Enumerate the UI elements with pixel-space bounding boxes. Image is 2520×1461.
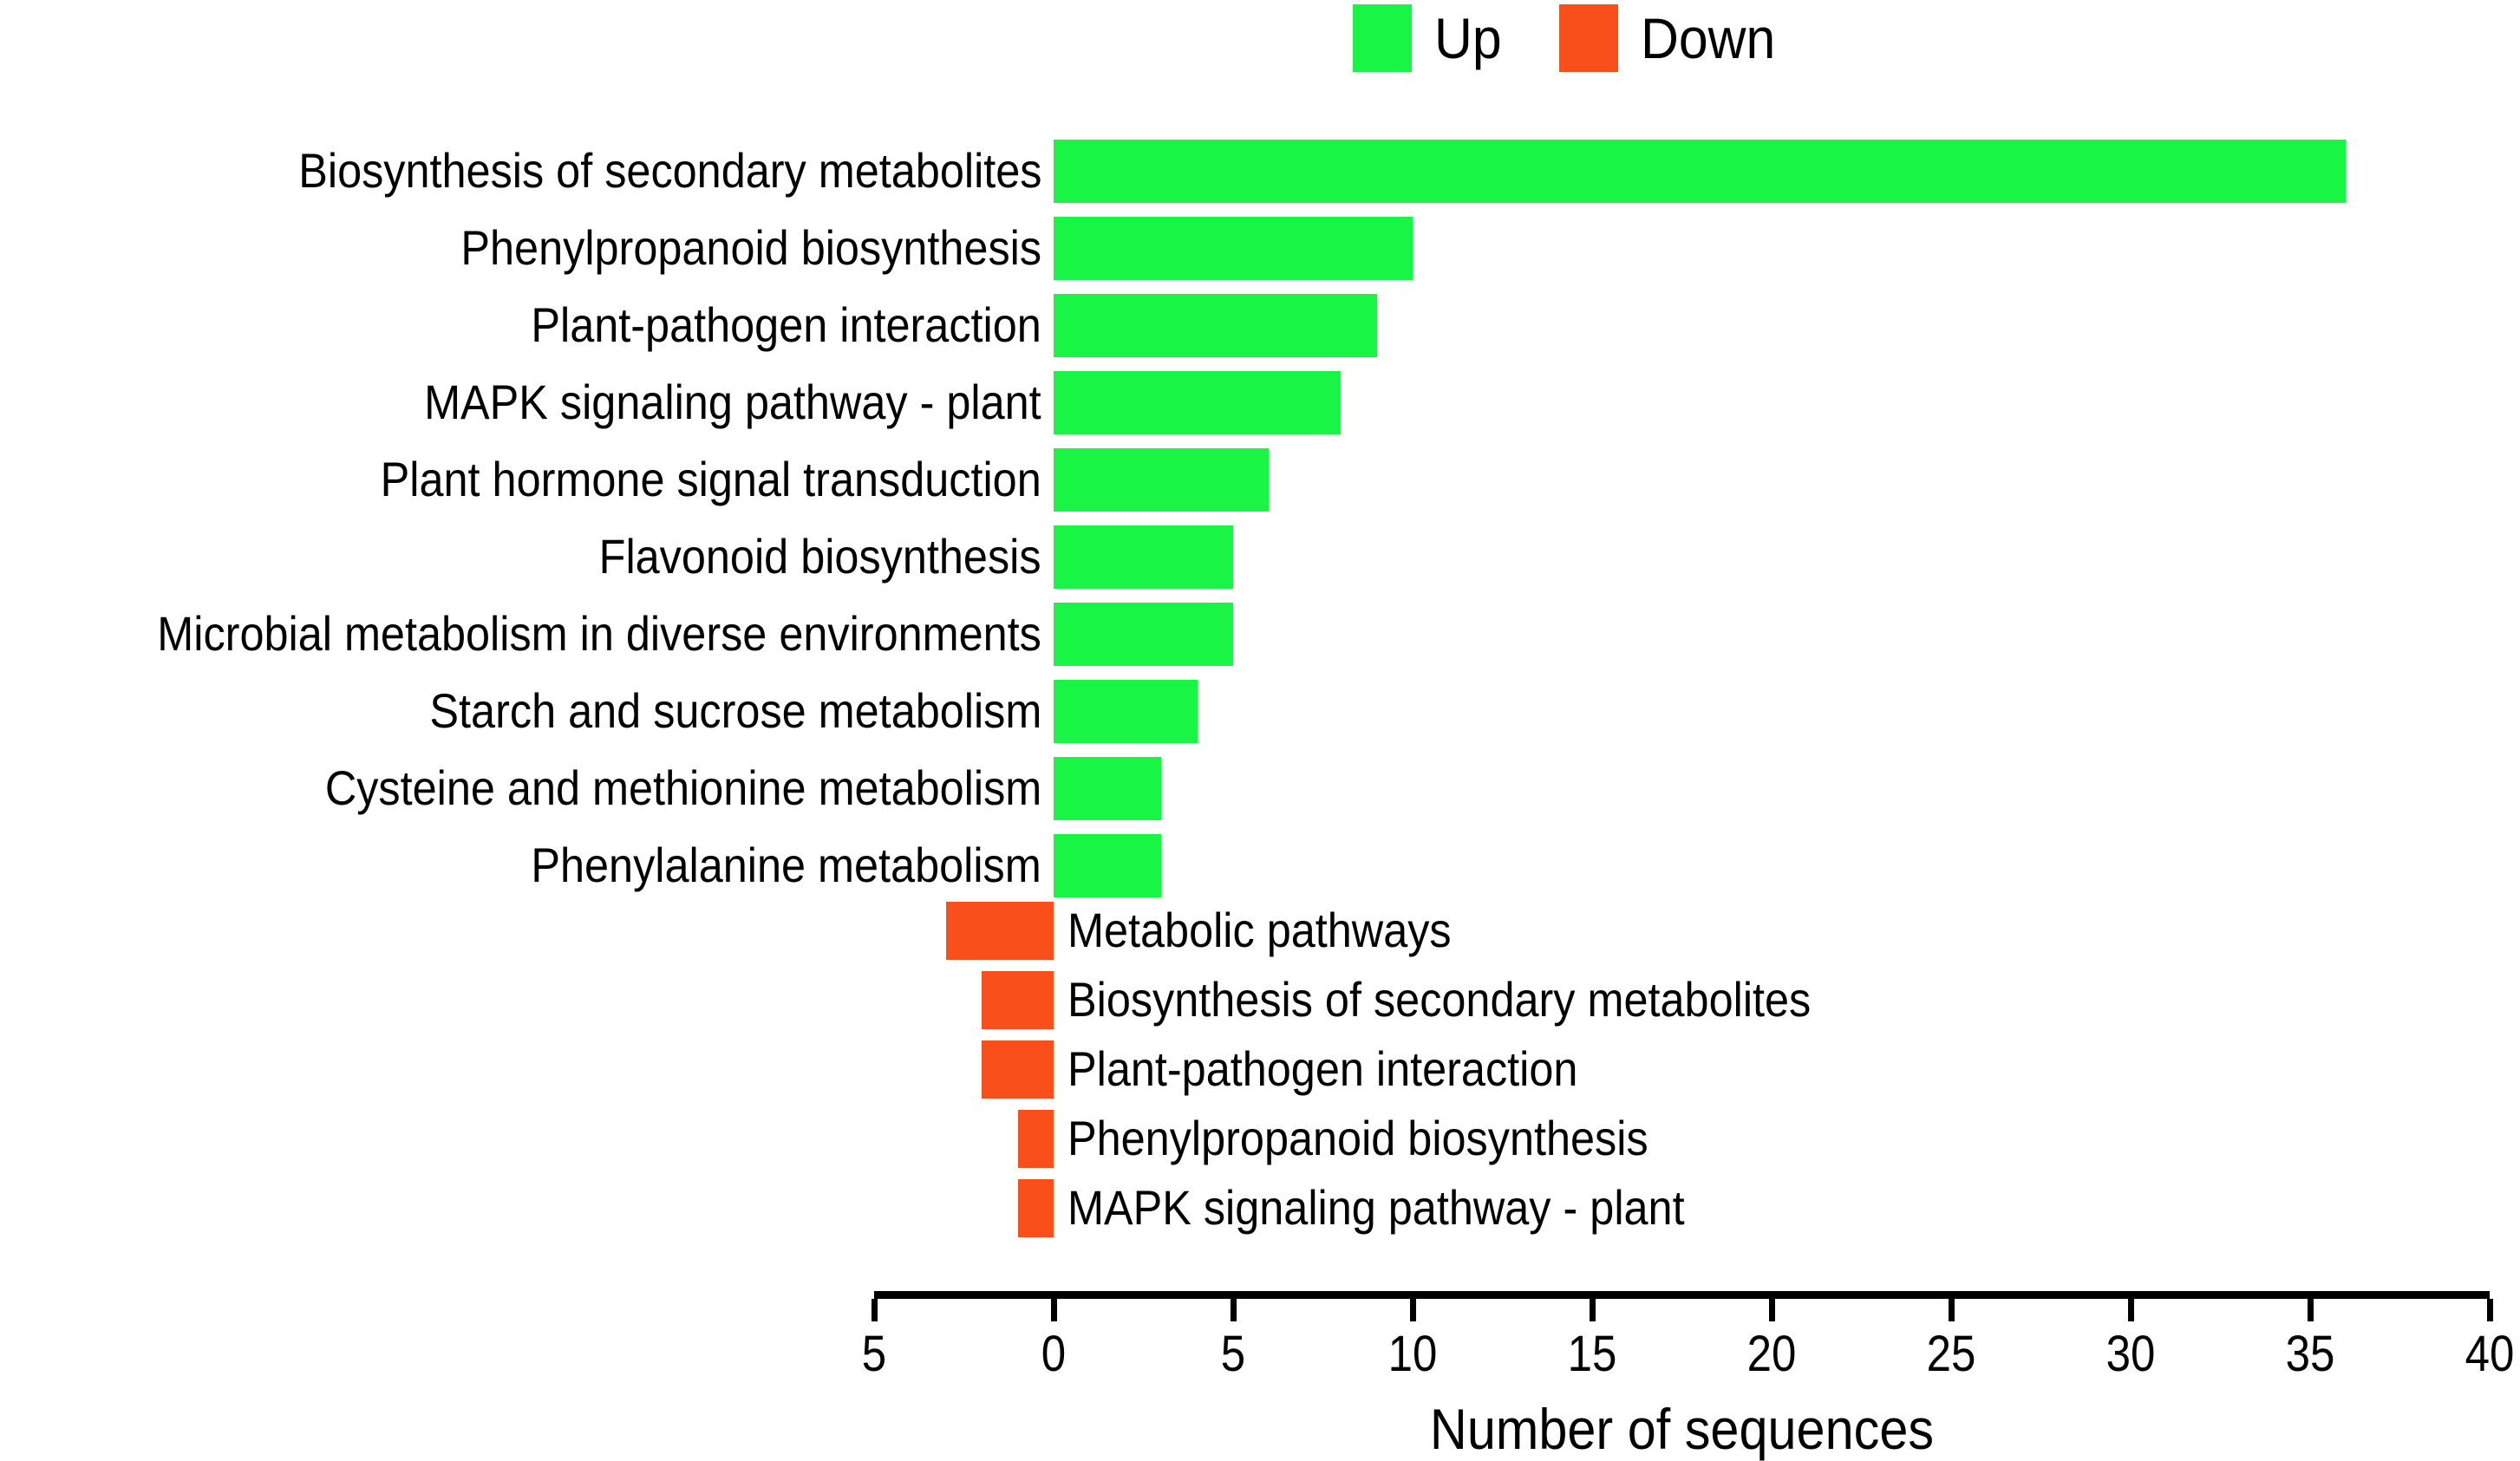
x-axis-tick (1410, 1299, 1416, 1321)
x-axis-tick-label: 25 (1927, 1329, 1976, 1379)
x-axis-tick (872, 1299, 878, 1321)
category-label-up: Starch and sucrose metabolism (429, 687, 1041, 735)
x-axis-tick-label: 5 (1221, 1329, 1245, 1379)
x-axis-tick (1231, 1299, 1237, 1321)
bar-up (1054, 757, 1161, 820)
bar-down (1018, 1110, 1054, 1168)
category-label-down: Biosynthesis of secondary metabolites (1067, 975, 1811, 1024)
x-axis-tick (1769, 1299, 1775, 1321)
category-label-up: Plant-pathogen interaction (532, 301, 1041, 349)
x-axis-tick-label: 35 (2286, 1329, 2335, 1379)
bar-up (1054, 525, 1233, 589)
kegg-pathway-bar-chart: Up Down Biosynthesis of secondary metabo… (0, 0, 2520, 1431)
category-label-up: Flavonoid biosynthesis (599, 532, 1041, 581)
x-axis-tick (1590, 1299, 1596, 1321)
x-axis-tick (2308, 1299, 2314, 1321)
x-axis-tick-label: 5 (862, 1329, 886, 1379)
bar-up (1054, 603, 1233, 666)
bar-up (1054, 834, 1161, 897)
category-label-down: Plant-pathogen interaction (1067, 1045, 1577, 1093)
category-label-up: Phenylalanine metabolism (532, 841, 1041, 890)
category-label-down: MAPK signaling pathway - plant (1067, 1184, 1685, 1232)
x-axis-tick (2128, 1299, 2134, 1321)
x-axis-tick (2487, 1299, 2493, 1321)
x-axis-title: Number of sequences (955, 1400, 2409, 1458)
x-axis-tick-label: 10 (1388, 1329, 1438, 1379)
bar-up (1054, 371, 1341, 434)
bar-up (1054, 448, 1269, 512)
x-axis-tick-label: 15 (1568, 1329, 1617, 1379)
category-label-up: Biosynthesis of secondary metabolites (298, 147, 1041, 195)
category-label-up: MAPK signaling pathway - plant (424, 378, 1041, 427)
bar-down (946, 902, 1054, 960)
bar-down (982, 1040, 1054, 1099)
bar-down (1018, 1179, 1054, 1237)
x-axis-line (874, 1291, 2490, 1299)
x-axis-tick (1949, 1299, 1955, 1321)
x-axis-tick-label: 40 (2465, 1329, 2515, 1379)
category-label-up: Phenylpropanoid biosynthesis (460, 224, 1041, 272)
x-axis-tick-label: 0 (1041, 1329, 1066, 1379)
bar-up (1054, 294, 1377, 357)
category-label-down: Metabolic pathways (1067, 906, 1452, 955)
x-axis-tick (1051, 1299, 1057, 1321)
plot-area: Biosynthesis of secondary metabolitesPhe… (0, 0, 2520, 1431)
category-label-down: Phenylpropanoid biosynthesis (1067, 1114, 1648, 1163)
x-axis-tick-label: 20 (1747, 1329, 1797, 1379)
category-label-up: Cysteine and methionine metabolism (325, 764, 1041, 812)
bar-up (1054, 140, 2346, 203)
category-label-up: Plant hormone signal transduction (381, 455, 1041, 504)
bar-up (1054, 680, 1198, 743)
category-label-up: Microbial metabolism in diverse environm… (157, 610, 1041, 658)
bar-up (1054, 217, 1413, 280)
bar-down (982, 971, 1054, 1029)
x-axis-tick-label: 30 (2106, 1329, 2156, 1379)
